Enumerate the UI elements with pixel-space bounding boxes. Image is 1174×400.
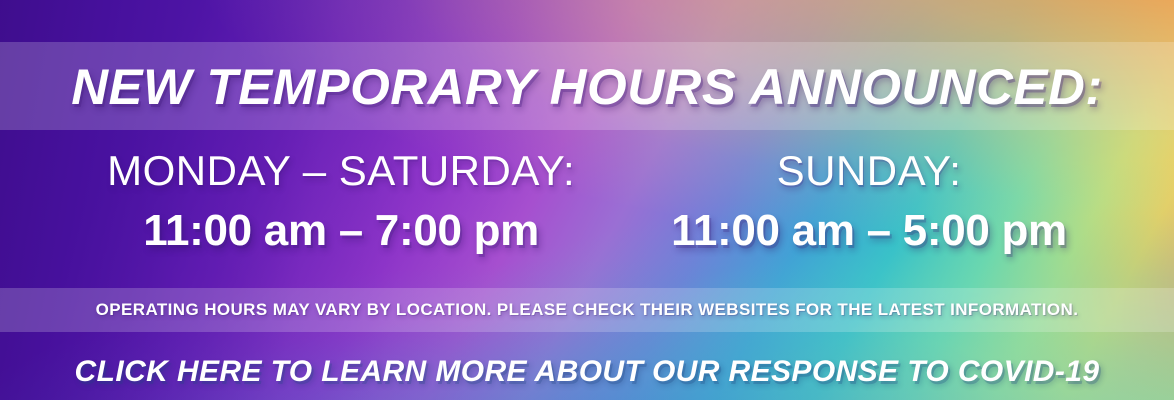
sunday-day-label: SUNDAY: (671, 142, 1067, 200)
hours-column-weekday: MONDAY – SATURDAY: 11:00 am – 7:00 pm (107, 142, 575, 262)
banner-content: NEW TEMPORARY HOURS ANNOUNCED: MONDAY – … (0, 0, 1174, 400)
hours-section: MONDAY – SATURDAY: 11:00 am – 7:00 pm SU… (0, 142, 1174, 272)
weekday-time-range: 11:00 am – 7:00 pm (107, 200, 575, 262)
sunday-time-range: 11:00 am – 5:00 pm (671, 200, 1067, 262)
headline-text: NEW TEMPORARY HOURS ANNOUNCED: (0, 50, 1174, 124)
hours-column-sunday: SUNDAY: 11:00 am – 5:00 pm (671, 142, 1067, 262)
fine-print-text: OPERATING HOURS MAY VARY BY LOCATION. PL… (0, 294, 1174, 326)
promo-banner: NEW TEMPORARY HOURS ANNOUNCED: MONDAY – … (0, 0, 1174, 400)
covid-response-link[interactable]: CLICK HERE TO LEARN MORE ABOUT OUR RESPO… (0, 348, 1174, 396)
weekday-day-label: MONDAY – SATURDAY: (107, 142, 575, 200)
